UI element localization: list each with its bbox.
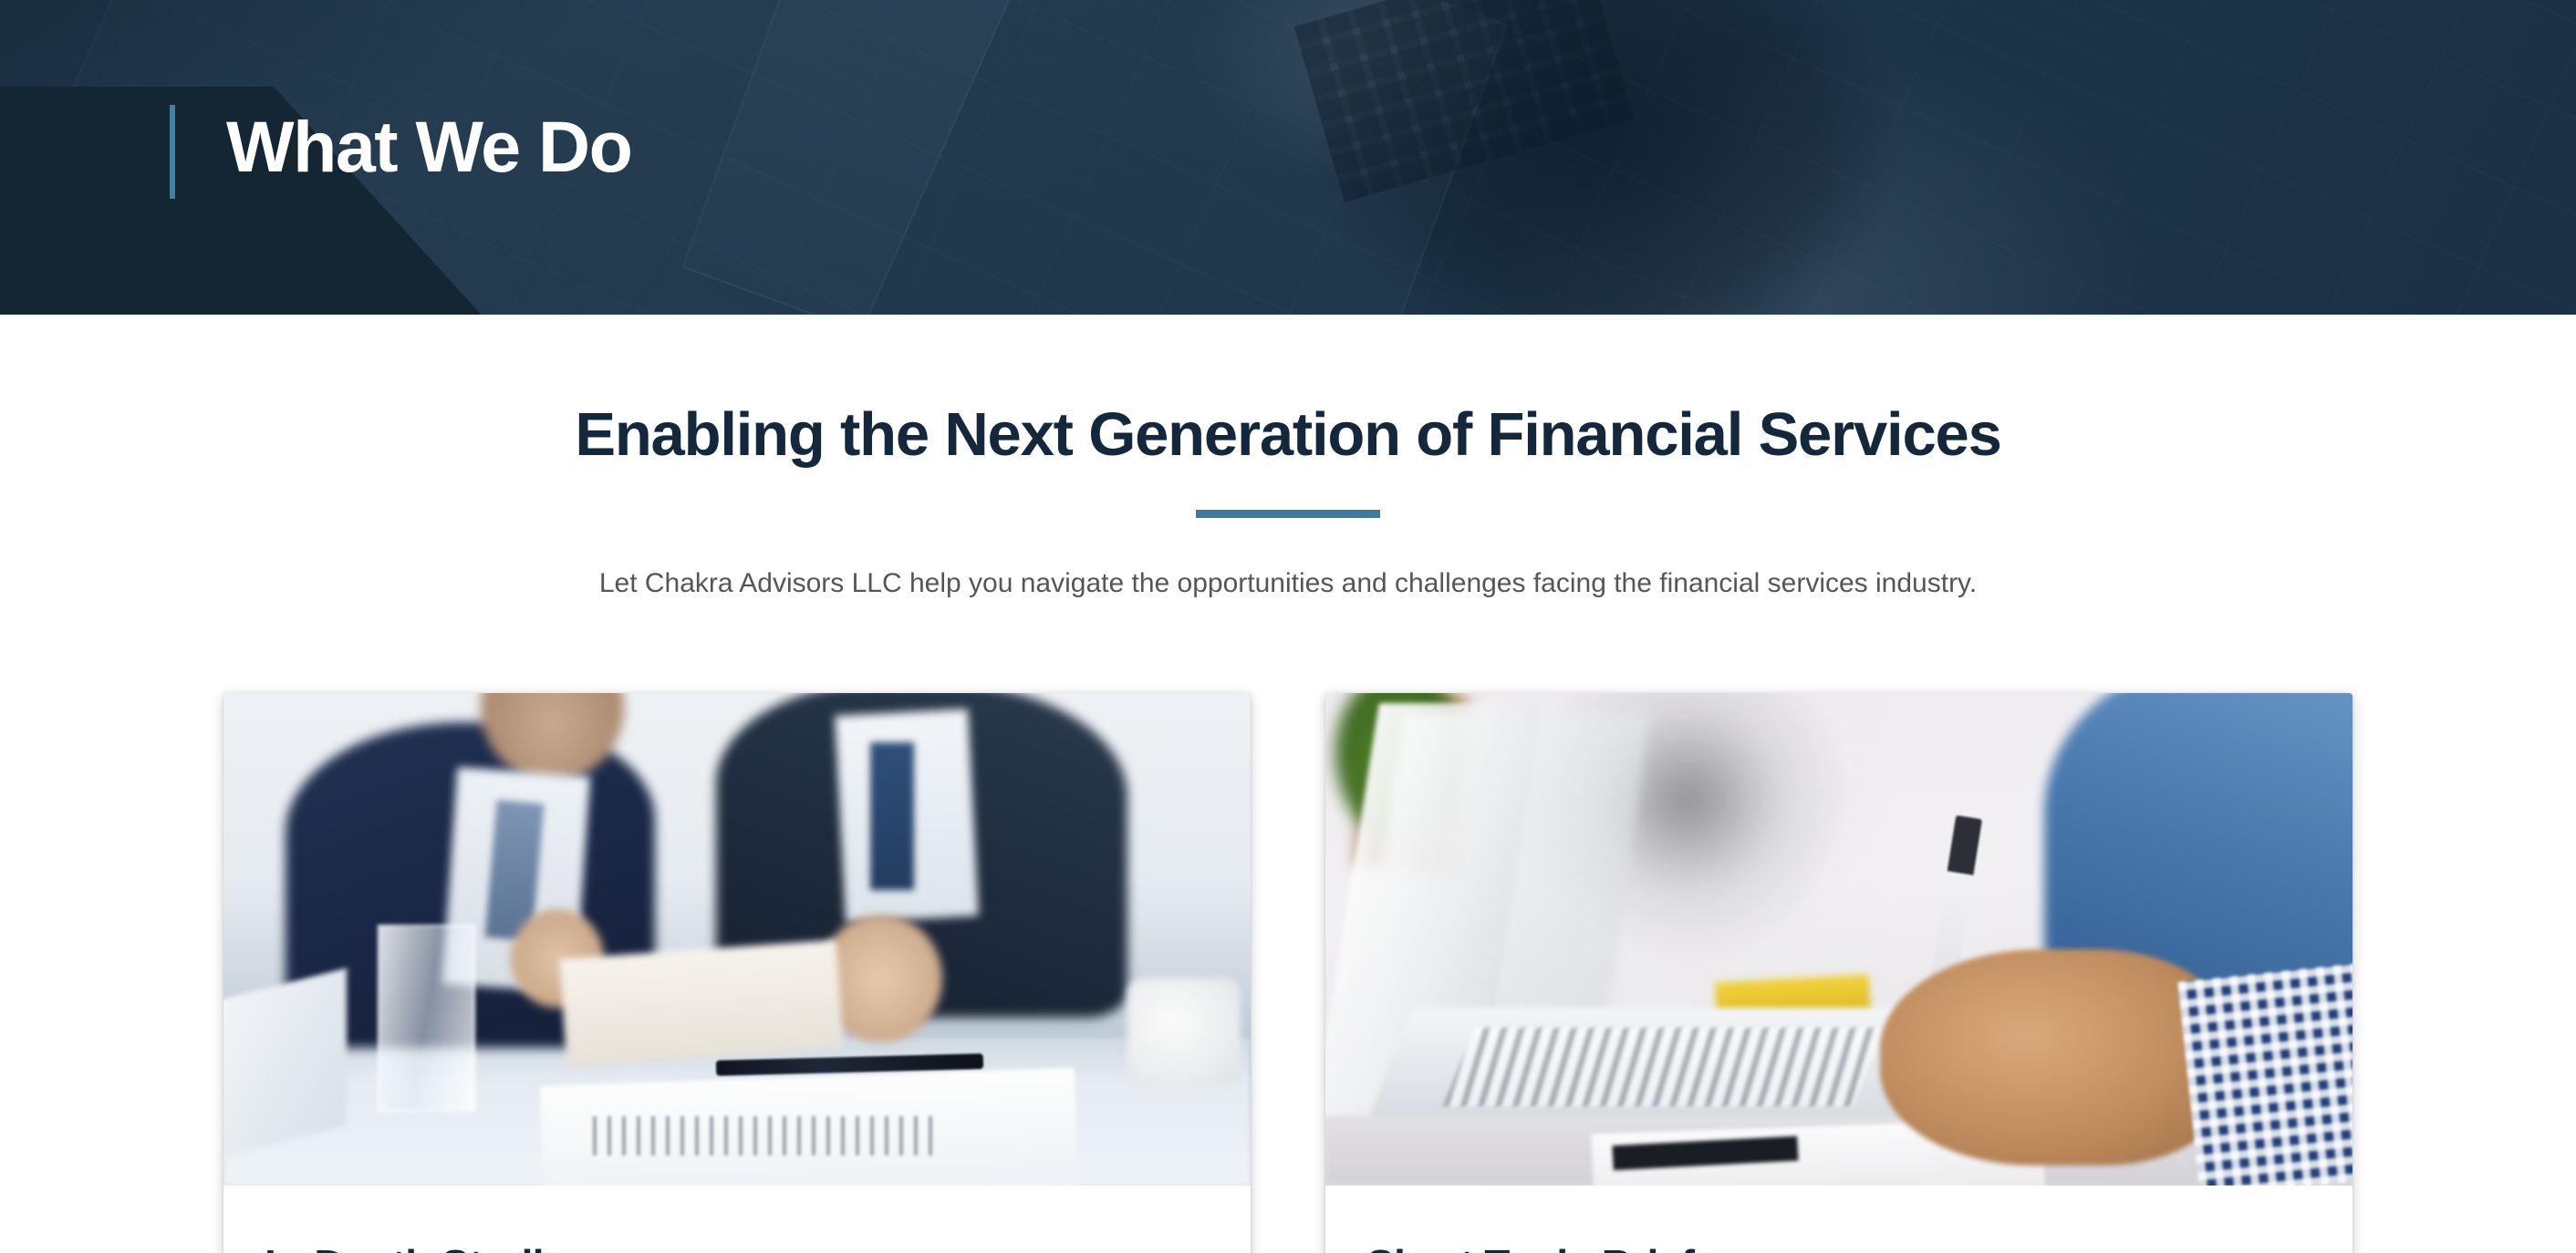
photo-businessmen — [223, 693, 1251, 1186]
card-body: Short Topic Briefs — [1325, 1186, 2353, 1253]
card-title: Short Topic Briefs — [1366, 1242, 2311, 1253]
section-subtitle: Let Chakra Advisors LLC help you navigat… — [0, 564, 2576, 604]
section-title: Enabling the Next Generation of Financia… — [0, 402, 2576, 468]
hero-title-group: What We Do — [170, 105, 631, 199]
card-body: In-Depth Studies — [223, 1186, 1251, 1253]
page-title: What We Do — [226, 110, 631, 182]
service-card-short-topic-briefs[interactable]: Short Topic Briefs — [1325, 693, 2353, 1253]
card-image-writing-hand — [1325, 693, 2353, 1186]
section-divider — [1196, 510, 1380, 518]
hero-banner: What We Do — [0, 0, 2576, 315]
card-grid: In-Depth Studies — [0, 693, 2576, 1253]
card-title: In-Depth Studies — [265, 1242, 1210, 1253]
card-image-businessmen — [223, 693, 1251, 1186]
page-root: What We Do Enabling the Next Generation … — [0, 0, 2576, 1253]
photo-writing-hand — [1325, 693, 2353, 1186]
section-header: Enabling the Next Generation of Financia… — [0, 315, 2576, 604]
main-content: Enabling the Next Generation of Financia… — [0, 315, 2576, 1253]
hero-accent-bar — [170, 105, 175, 199]
service-card-in-depth-studies[interactable]: In-Depth Studies — [223, 693, 1251, 1253]
